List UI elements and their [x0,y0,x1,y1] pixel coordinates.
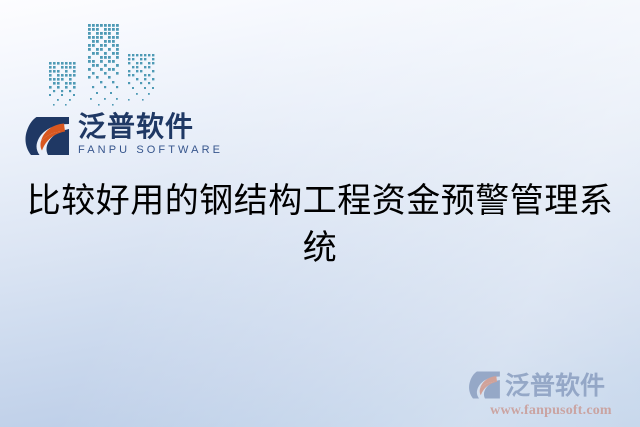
page-title-line1: 比较好用的钢结构工程资金预警 [27,181,510,221]
brand-name-en: FANPU SOFTWARE [78,145,223,156]
watermark-logo-row: 泛普软件 [468,370,634,400]
watermark: 泛普软件 www.fanpusoft.com [468,370,634,419]
watermark-url: www.fanpusoft.com [468,403,634,419]
fanpu-logo-mark-icon [24,115,72,157]
poster-canvas: 泛普软件 FANPU SOFTWARE 比较好用的钢结构工程资金预警管理系统 泛… [0,0,640,427]
watermark-name-cn: 泛普软件 [505,373,605,398]
page-title: 比较好用的钢结构工程资金预警管理系统 [0,178,640,272]
pixel-city-skyline-icon [48,18,158,110]
fanpu-watermark-mark-icon [468,370,502,400]
brand-logo: 泛普软件 FANPU SOFTWARE [24,113,223,157]
brand-name-cn: 泛普软件 [78,113,223,141]
